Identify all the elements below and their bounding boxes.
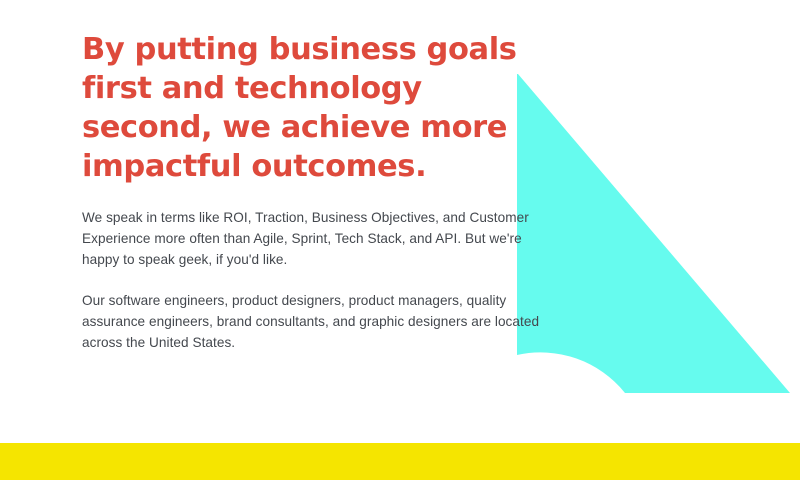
body-copy: We speak in terms like ROI, Traction, Bu… [82,207,544,353]
content-column: By putting business goals first and tech… [82,30,552,353]
cyan-triangle-path [517,74,790,393]
yellow-band [0,443,800,480]
page-root: By putting business goals first and tech… [0,0,800,480]
page-headline: By putting business goals first and tech… [82,30,552,186]
body-paragraph-2: Our software engineers, product designer… [82,290,544,354]
body-paragraph-1: We speak in terms like ROI, Traction, Bu… [82,207,544,271]
